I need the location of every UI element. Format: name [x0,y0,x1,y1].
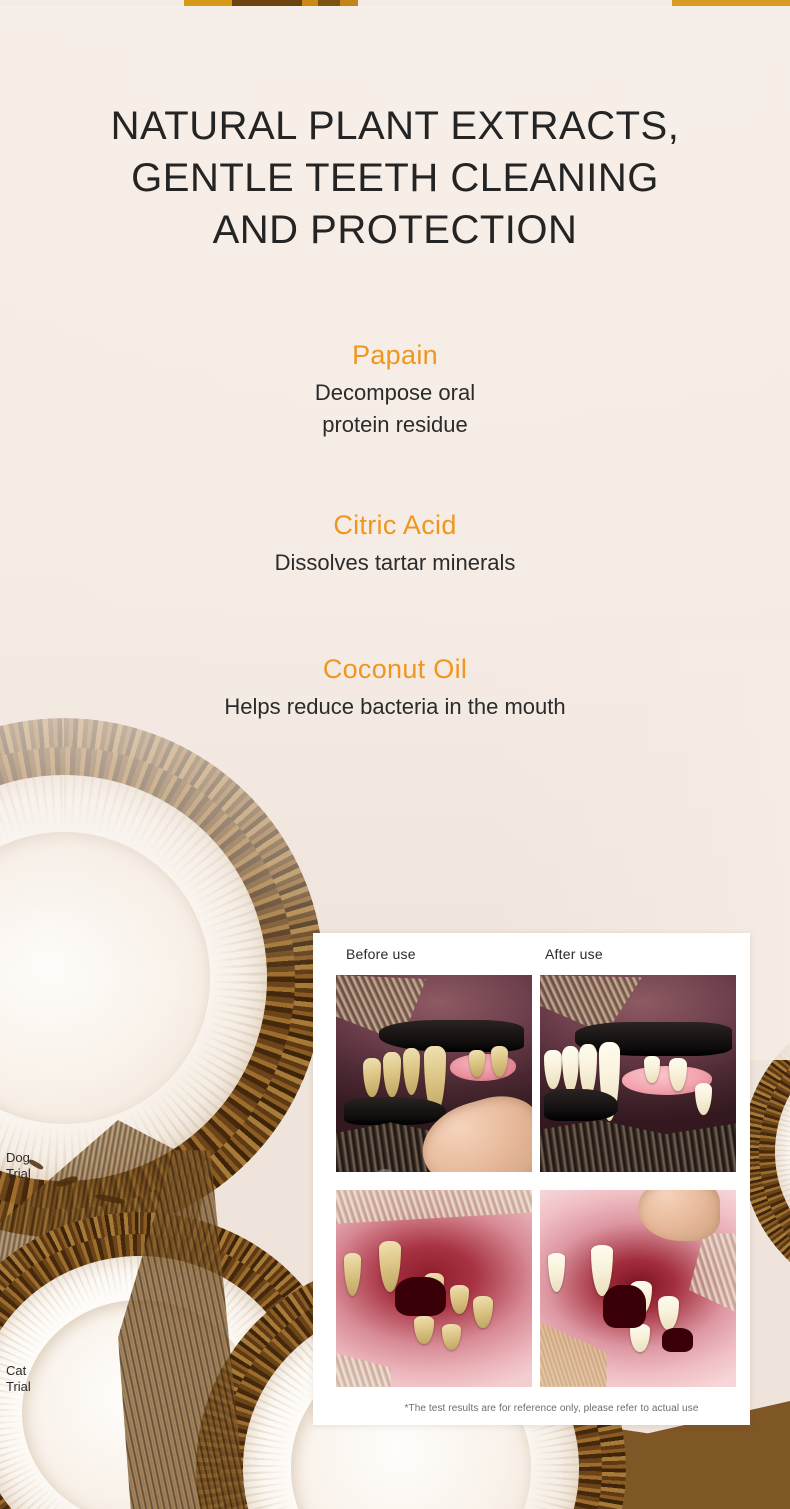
ingredient-papain: Papain Decompose oral protein residue [0,338,790,441]
ingredient-description-line-1: Decompose oral [0,377,790,409]
column-header-after: After use [545,946,603,962]
headline-line-2: GENTLE TEETH CLEANING [0,152,790,204]
photo-cat-after [540,1190,736,1387]
trial-row-label-line-2: Trial [6,1379,32,1395]
trial-row-label-dog: Dog Trial [6,1150,32,1182]
headline-line-3: AND PROTECTION [0,204,790,256]
trial-row-label-cat: Cat Trial [6,1363,32,1395]
trial-row-label-line-1: Dog [6,1150,32,1166]
page-title: NATURAL PLANT EXTRACTS, GENTLE TEETH CLE… [0,100,790,256]
ingredient-description-line-2: protein residue [0,409,790,441]
headline-line-1: NATURAL PLANT EXTRACTS, [0,100,790,152]
dog-lower-lip [344,1097,446,1125]
ingredient-citric-acid: Citric Acid Dissolves tartar minerals [0,508,790,579]
photo-cat-before [336,1190,532,1387]
adjacent-image-sliver [0,0,790,6]
product-detail-image: NATURAL PLANT EXTRACTS, GENTLE TEETH CLE… [0,0,790,1509]
cat-mouth-gap [395,1277,446,1316]
photo-dog-before [336,975,532,1172]
cat-mouth-gap [662,1328,693,1352]
cat-mouth-gap [603,1285,646,1328]
photo-dog-after [540,975,736,1172]
ingredient-name: Citric Acid [0,508,790,542]
trial-disclaimer: *The test results are for reference only… [313,1403,750,1414]
before-after-trial-card: Before use After use [313,933,750,1425]
ingredient-name: Papain [0,338,790,372]
ingredient-coconut-oil: Coconut Oil Helps reduce bacteria in the… [0,652,790,723]
trial-row-label-line-2: Trial [6,1166,32,1182]
ingredient-name: Coconut Oil [0,652,790,686]
trial-row-label-line-1: Cat [6,1363,32,1379]
column-header-before: Before use [346,946,416,962]
ingredient-description-line-1: Dissolves tartar minerals [0,547,790,579]
dog-lower-lip [544,1089,618,1121]
ingredient-description-line-1: Helps reduce bacteria in the mouth [0,691,790,723]
